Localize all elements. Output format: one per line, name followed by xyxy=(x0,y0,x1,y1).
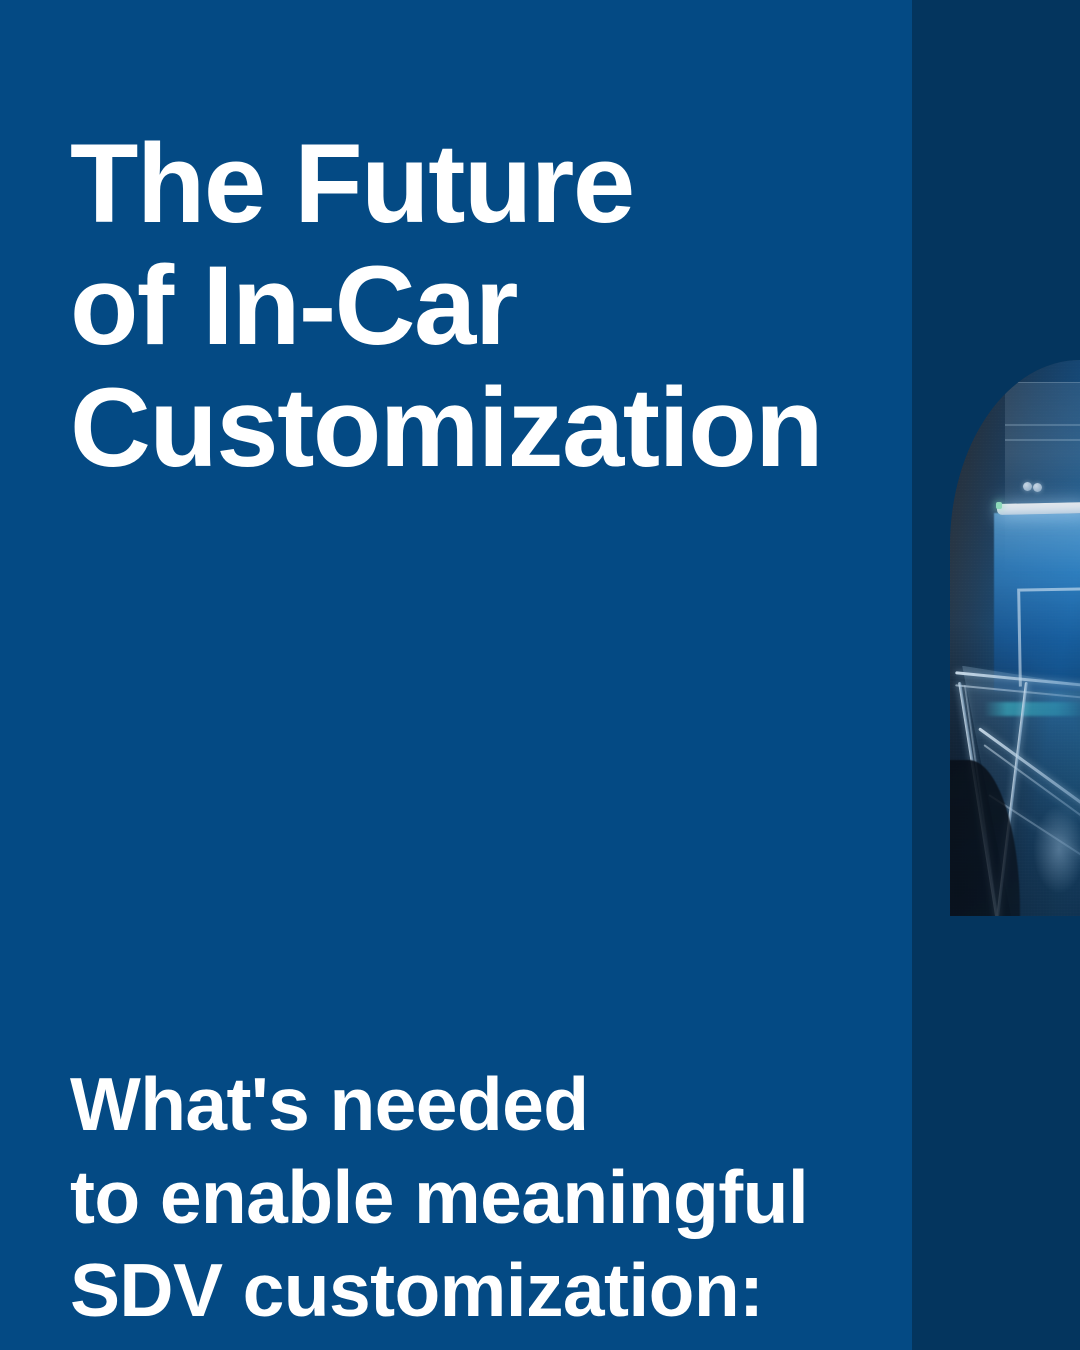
photo-image xyxy=(950,360,1080,916)
headline: The Future of In-Car Customization xyxy=(70,123,900,489)
subheadline: What's needed to enable meaningful SDV c… xyxy=(70,1058,900,1337)
photo-color-tone-overlay xyxy=(950,360,1080,916)
photo-panel xyxy=(950,360,1080,916)
social-card: The Future of In-Car Customization What'… xyxy=(0,0,1080,1350)
